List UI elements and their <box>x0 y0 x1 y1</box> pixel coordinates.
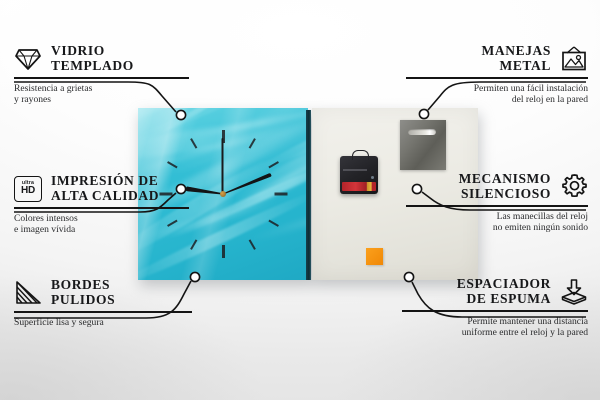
foam-spacer-arrow-icon <box>560 278 588 306</box>
clock-tick <box>190 239 197 250</box>
clock-tick <box>249 239 256 250</box>
polished-glass-edge <box>306 110 311 280</box>
callout-title: MANEJAS METAL <box>482 44 551 73</box>
clock-second-hand <box>222 138 224 194</box>
callout-description: Las manecillas del reloj no emiten ningú… <box>406 211 588 234</box>
bracket-slot <box>408 129 436 135</box>
callout-rule <box>14 77 189 79</box>
callout-rule <box>406 205 588 207</box>
callout-description: Resistencia a grietas y rayones <box>14 83 189 106</box>
clock-tick <box>268 220 279 227</box>
infographic-canvas: VIDRIO TEMPLADO Resistencia a grietas y … <box>0 0 600 400</box>
callout-manejas-metal: MANEJAS METAL Permiten una fácil instala… <box>406 44 588 105</box>
movement-detail-dot <box>371 176 374 179</box>
callout-description: Permite mantener una distancia uniforme … <box>402 316 588 339</box>
callout-bordes-pulidos: BORDES PULIDOS Superficie lisa y segura <box>14 278 192 328</box>
hanging-frame-icon <box>560 45 588 73</box>
clock-minute-hand <box>222 173 272 196</box>
callout-head: BORDES PULIDOS <box>14 278 192 307</box>
callout-head: VIDRIO TEMPLADO <box>14 44 189 73</box>
callout-mecanismo-silencioso: MECANISMO SILENCIOSO Las manecillas del … <box>406 172 588 233</box>
callout-rule <box>14 311 192 313</box>
callout-title: ESPACIADOR DE ESPUMA <box>457 277 551 306</box>
callout-impresion-alta-calidad: ultra HD IMPRESIÓN DE ALTA CALIDAD Color… <box>14 174 189 235</box>
callout-title: IMPRESIÓN DE ALTA CALIDAD <box>51 174 159 203</box>
clock-tick <box>249 138 256 149</box>
callout-title: VIDRIO TEMPLADO <box>51 44 134 73</box>
movement-battery <box>342 182 376 191</box>
callout-description: Permiten una fácil instalación del reloj… <box>406 83 588 106</box>
callout-rule <box>406 77 588 79</box>
clock-tick <box>190 138 197 149</box>
gear-icon <box>560 173 588 201</box>
movement-hanging-loop <box>352 150 369 160</box>
clock-tick <box>167 161 178 168</box>
diamond-icon <box>14 45 42 73</box>
movement-detail-line <box>343 169 367 171</box>
clock-tick <box>222 245 225 258</box>
callout-espaciador-espuma: ESPACIADOR DE ESPUMA Permite mantener un… <box>402 277 588 338</box>
callout-vidrio-templado: VIDRIO TEMPLADO Resistencia a grietas y … <box>14 44 189 105</box>
callout-rule <box>402 310 588 312</box>
clock-hour-hand <box>185 186 223 196</box>
callout-head: MANEJAS METAL <box>406 44 588 73</box>
ultra-hd-main-label: HD <box>21 186 35 196</box>
callout-title: BORDES PULIDOS <box>51 278 115 307</box>
callout-head: ESPACIADOR DE ESPUMA <box>402 277 588 306</box>
ultra-hd-icon: ultra HD <box>14 175 42 203</box>
clock-tick <box>274 193 287 196</box>
callout-head: MECANISMO SILENCIOSO <box>406 172 588 201</box>
polished-edge-icon <box>14 279 42 307</box>
callout-description: Colores intensos e imagen vívida <box>14 213 189 236</box>
clock-movement <box>340 156 378 194</box>
metal-hanger-bracket <box>400 120 446 170</box>
clock-tick <box>268 161 279 168</box>
callout-head: ultra HD IMPRESIÓN DE ALTA CALIDAD <box>14 174 189 203</box>
callout-rule <box>14 207 189 209</box>
callout-description: Superficie lisa y segura <box>14 317 192 328</box>
foam-spacer <box>366 248 383 265</box>
ultra-hd-badge: ultra HD <box>14 176 42 202</box>
clock-center-hub <box>220 191 226 197</box>
callout-title: MECANISMO SILENCIOSO <box>459 172 551 201</box>
